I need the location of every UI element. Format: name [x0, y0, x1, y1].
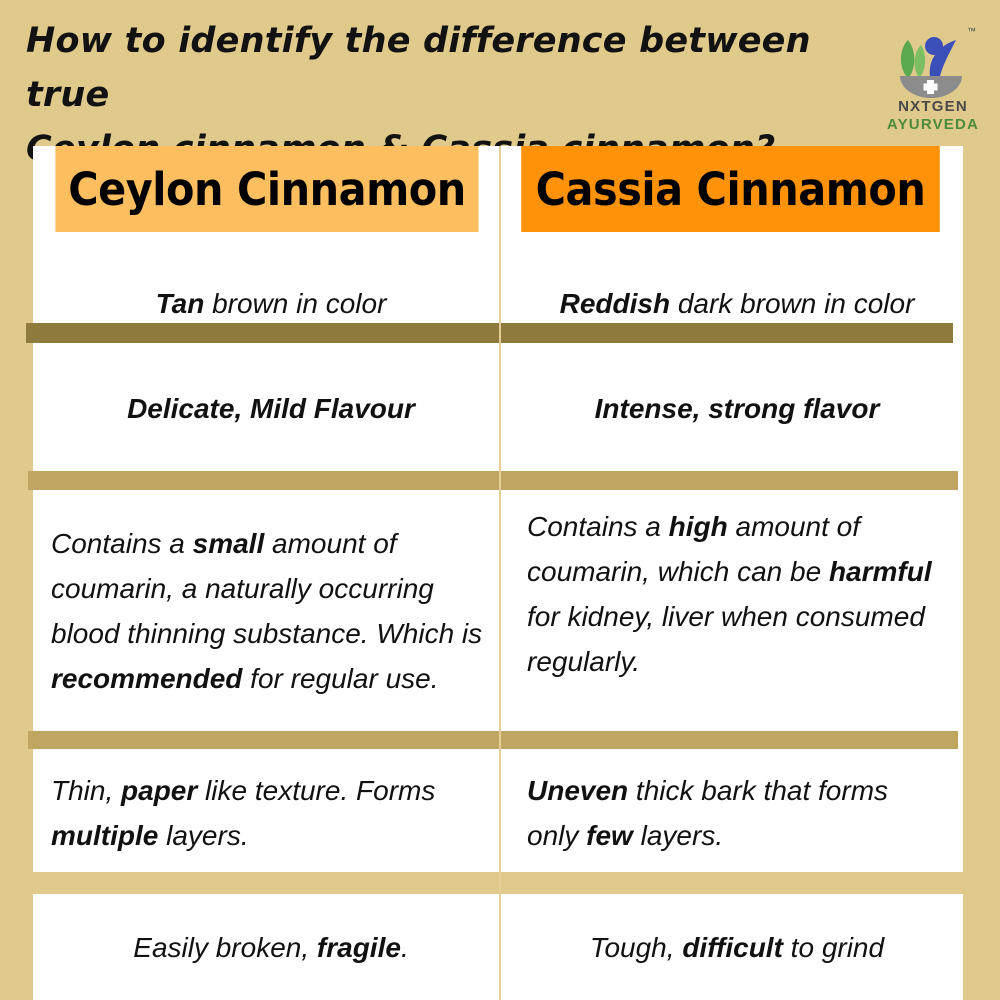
row-separator-1: [26, 323, 953, 343]
trademark-icon: ™: [967, 26, 976, 36]
ayurveda-emblem-icon: [878, 26, 988, 98]
table-header-row: Ceylon Cinnamon Cassia Cinnamon: [33, 146, 963, 232]
cell-cassia-coumarin: Contains a high amount of coumarin, whic…: [505, 490, 957, 731]
comparison-table: Ceylon Cinnamon Cassia Cinnamon Tan brow…: [33, 146, 963, 1000]
logo-mark-icon: ™: [878, 26, 988, 98]
column-header-cassia: Cassia Cinnamon: [521, 146, 940, 232]
cell-cassia-texture: Uneven thick bark that forms only few la…: [505, 754, 957, 872]
page-title-block: How to identify the difference between t…: [26, 14, 866, 129]
row-separator-2: [28, 471, 958, 490]
brand-logo: ™ NXTGEN AYURVEDA: [878, 26, 988, 138]
row-separator-4: [28, 872, 965, 894]
cell-ceylon-coumarin: Contains a small amount of coumarin, a n…: [41, 490, 499, 731]
column-divider: [499, 146, 501, 1000]
cell-ceylon-flavour: Delicate, Mild Flavour: [41, 343, 499, 473]
cell-ceylon-hardness: Easily broken, fragile.: [41, 894, 499, 1000]
logo-text-nxtgen: NXTGEN: [878, 98, 988, 116]
cell-ceylon-texture: Thin, paper like texture. Forms multiple…: [41, 754, 499, 872]
row-separator-3: [28, 731, 958, 749]
logo-text-ayurveda: AYURVEDA: [878, 116, 988, 134]
column-header-ceylon: Ceylon Cinnamon: [55, 146, 478, 232]
cell-cassia-flavour: Intense, strong flavor: [505, 343, 957, 473]
cell-cassia-hardness: Tough, difficult to grind: [505, 894, 957, 1000]
